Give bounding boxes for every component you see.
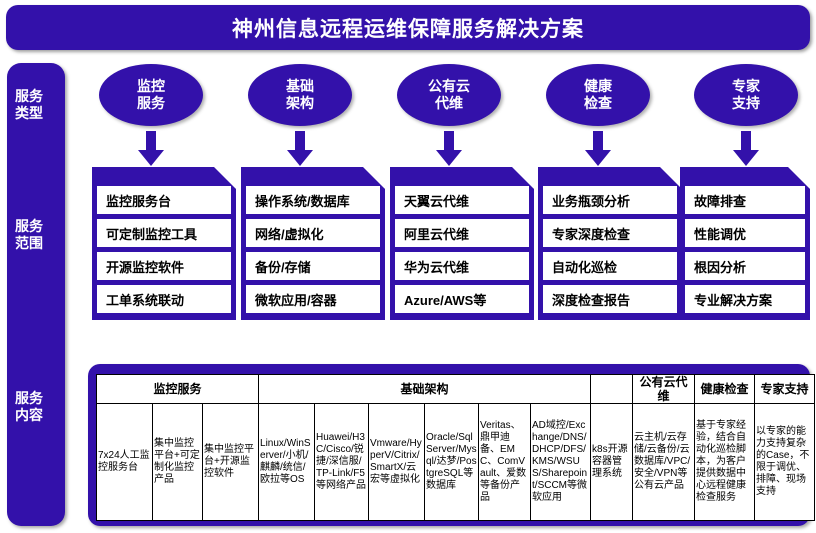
scope-item[interactable]: 深度检查报告 bbox=[543, 285, 677, 313]
scope-item[interactable]: 业务瓶颈分析 bbox=[543, 186, 677, 214]
table-cell: 集中监控平台+可定制化监控产品 bbox=[153, 404, 203, 521]
scope-item[interactable]: 故障排查 bbox=[685, 186, 805, 214]
sidebar-item-service-scope: 服务 范围 bbox=[0, 218, 58, 252]
category-ellipse-health-check: 健康 检查 bbox=[546, 64, 650, 126]
scope-item[interactable]: 性能调优 bbox=[685, 219, 805, 247]
scope-item[interactable]: 开源监控软件 bbox=[97, 252, 231, 280]
table-cell: Huawei/H3C/Cisco/锐捷/深信服/TP-Link/F5等网络产品 bbox=[315, 404, 369, 521]
sidebar-item-service-content-line2: 内容 bbox=[0, 407, 58, 424]
down-arrow-icon-public-cloud-ops bbox=[436, 131, 462, 166]
down-arrow-icon-health-check bbox=[585, 131, 611, 166]
table-cell: Veritas、鼎甲迪备、EMC、ComVault、爱数等备份产品 bbox=[479, 404, 531, 521]
scope-item[interactable]: 工单系统联动 bbox=[97, 285, 231, 313]
table-cell: 7x24人工监控服务台 bbox=[97, 404, 153, 521]
sidebar-item-service-content: 服务 内容 bbox=[0, 390, 58, 424]
table-group-header-spacer bbox=[591, 375, 633, 404]
sidebar-item-service-content-line1: 服务 bbox=[0, 390, 58, 407]
category-monitoring-service-line2: 服务 bbox=[137, 95, 165, 112]
table-cell: 基于专家经验，结合自动化巡检脚本，为客户提供数据中心远程健康检查服务 bbox=[695, 404, 755, 521]
sidebar-item-service-type: 服务 类型 bbox=[0, 88, 58, 122]
down-arrow-icon-expert-support bbox=[733, 131, 759, 166]
scope-item[interactable]: Azure/AWS等 bbox=[395, 285, 529, 313]
diagram-canvas: 神州信息远程运维保障服务解决方案 服务 类型 服务 范围 服务 内容 监控 服务… bbox=[0, 0, 816, 533]
table-header-row: 监控服务 基础架构 公有云代维 健康检查 专家支持 bbox=[97, 375, 815, 404]
table-row: 7x24人工监控服务台 集中监控平台+可定制化监控产品 集中监控平台+开源监控软… bbox=[97, 404, 815, 521]
scope-item[interactable]: 专家深度检查 bbox=[543, 219, 677, 247]
table-cell: k8s开源容器管理系统 bbox=[591, 404, 633, 521]
service-content-panel: 监控服务 基础架构 公有云代维 健康检查 专家支持 7x24人工监控服务台 集中… bbox=[88, 364, 810, 526]
table-group-header: 专家支持 bbox=[755, 375, 815, 404]
service-content-table: 监控服务 基础架构 公有云代维 健康检查 专家支持 7x24人工监控服务台 集中… bbox=[96, 374, 815, 521]
table-cell: Linux/WinServer/小机/麒麟/统信/欧拉等OS bbox=[259, 404, 315, 521]
scope-item[interactable]: 自动化巡检 bbox=[543, 252, 677, 280]
scope-item[interactable]: 备份/存储 bbox=[246, 252, 380, 280]
category-ellipse-expert-support: 专家 支持 bbox=[694, 64, 798, 126]
scope-item[interactable]: 根因分析 bbox=[685, 252, 805, 280]
category-ellipse-infrastructure: 基础 架构 bbox=[248, 64, 352, 126]
scope-item[interactable]: 可定制监控工具 bbox=[97, 219, 231, 247]
table-cell: 以专家的能力支持复杂的Case，不限于调优、排障、现场支持 bbox=[755, 404, 815, 521]
table-cell: Oracle/SqlServer/Mysql/达梦/PostgreSQL等数据库 bbox=[425, 404, 479, 521]
category-health-check-line2: 检查 bbox=[584, 95, 612, 112]
scope-item[interactable]: 天翼云代维 bbox=[395, 186, 529, 214]
category-public-cloud-ops-line1: 公有云 bbox=[428, 78, 470, 95]
table-group-header: 健康检查 bbox=[695, 375, 755, 404]
table-cell: 集中监控平台+开源监控软件 bbox=[203, 404, 259, 521]
sidebar-item-service-scope-line1: 服务 bbox=[0, 218, 58, 235]
scope-item[interactable]: 专业解决方案 bbox=[685, 285, 805, 313]
category-expert-support-line2: 支持 bbox=[732, 95, 760, 112]
category-expert-support-line1: 专家 bbox=[732, 78, 760, 95]
scope-item[interactable]: 监控服务台 bbox=[97, 186, 231, 214]
table-group-header: 基础架构 bbox=[259, 375, 591, 404]
table-cell: Vmware/HyperV/Citrix/SmartX/云宏等虚拟化 bbox=[369, 404, 425, 521]
scope-item[interactable]: 阿里云代维 bbox=[395, 219, 529, 247]
sidebar-panel bbox=[7, 63, 65, 526]
page-title-bar: 神州信息远程运维保障服务解决方案 bbox=[6, 5, 810, 50]
scope-card-infrastructure: 操作系统/数据库 网络/虚拟化 备份/存储 微软应用/容器 bbox=[241, 167, 385, 320]
sidebar-item-service-type-line2: 类型 bbox=[0, 105, 58, 122]
scope-card-health-check: 业务瓶颈分析 专家深度检查 自动化巡检 深度检查报告 bbox=[538, 167, 682, 320]
scope-item[interactable]: 微软应用/容器 bbox=[246, 285, 380, 313]
scope-card-expert-support: 故障排查 性能调优 根因分析 专业解决方案 bbox=[680, 167, 810, 320]
table-cell: AD域控/Exchange/DNS/DHCP/DFS/KMS/WSUS/Shar… bbox=[531, 404, 591, 521]
scope-item[interactable]: 网络/虚拟化 bbox=[246, 219, 380, 247]
sidebar-item-service-type-line1: 服务 bbox=[0, 88, 58, 105]
category-ellipse-monitoring-service: 监控 服务 bbox=[99, 64, 203, 126]
category-monitoring-service-line1: 监控 bbox=[137, 78, 165, 95]
scope-item[interactable]: 华为云代维 bbox=[395, 252, 529, 280]
category-public-cloud-ops-line2: 代维 bbox=[435, 95, 463, 112]
table-cell: 云主机/云存储/云备份/云数据库/VPC/安全/VPN等公有云产品 bbox=[633, 404, 695, 521]
scope-card-monitoring-service: 监控服务台 可定制监控工具 开源监控软件 工单系统联动 bbox=[92, 167, 236, 320]
table-group-header: 监控服务 bbox=[97, 375, 259, 404]
category-ellipse-public-cloud-ops: 公有云 代维 bbox=[397, 64, 501, 126]
scope-card-public-cloud-ops: 天翼云代维 阿里云代维 华为云代维 Azure/AWS等 bbox=[390, 167, 534, 320]
down-arrow-icon-monitoring-service bbox=[138, 131, 164, 166]
category-infrastructure-line2: 架构 bbox=[286, 95, 314, 112]
down-arrow-icon-infrastructure bbox=[287, 131, 313, 166]
category-health-check-line1: 健康 bbox=[584, 78, 612, 95]
page-title: 神州信息远程运维保障服务解决方案 bbox=[232, 13, 584, 43]
sidebar-item-service-scope-line2: 范围 bbox=[0, 235, 58, 252]
category-infrastructure-line1: 基础 bbox=[286, 78, 314, 95]
table-group-header: 公有云代维 bbox=[633, 375, 695, 404]
scope-item[interactable]: 操作系统/数据库 bbox=[246, 186, 380, 214]
